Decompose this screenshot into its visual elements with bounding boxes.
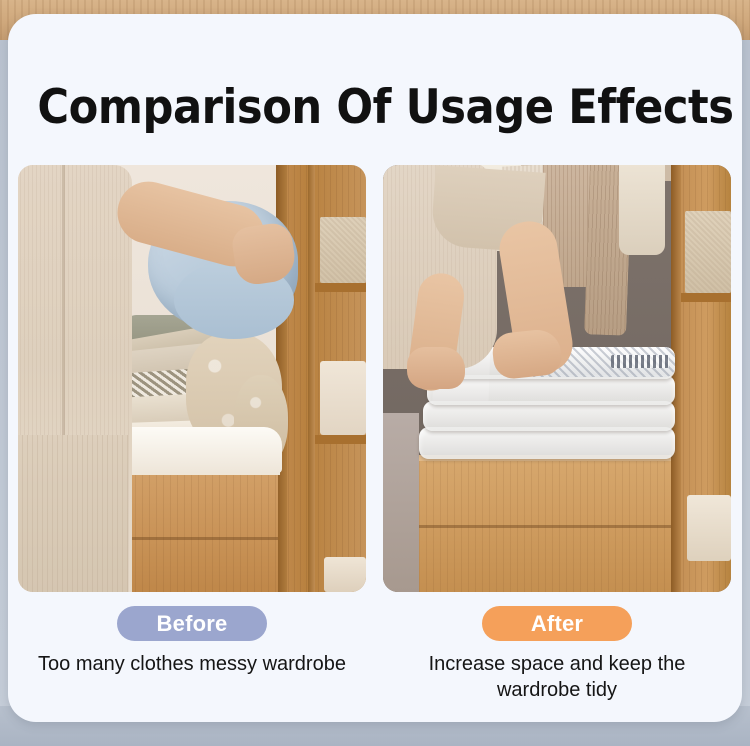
hanging-garment bbox=[619, 165, 665, 255]
page-title: Comparison Of Usage Effects bbox=[37, 80, 712, 135]
person-trousers bbox=[18, 435, 128, 592]
before-photo bbox=[18, 165, 366, 592]
wooden-drawer-front bbox=[419, 455, 671, 592]
person-hand-left bbox=[407, 347, 465, 389]
after-column: After Increase space and keep the wardro… bbox=[383, 606, 731, 703]
comparison-card: Comparison Of Usage Effects bbox=[8, 14, 742, 722]
before-caption: Too many clothes messy wardrobe bbox=[38, 651, 346, 677]
before-badge: Before bbox=[117, 606, 267, 641]
shelf-board-upper bbox=[315, 283, 366, 292]
comparison-labels: Before Too many clothes messy wardrobe A… bbox=[18, 606, 732, 703]
vacuum-storage-bag bbox=[423, 401, 675, 431]
photo-panels bbox=[18, 165, 732, 592]
vacuum-storage-bag bbox=[427, 375, 675, 405]
screenshot-root: Comparison Of Usage Effects bbox=[0, 0, 750, 746]
fabric-storage-box-upper bbox=[320, 217, 366, 283]
vacuum-storage-bag bbox=[419, 427, 675, 459]
after-caption: Increase space and keep the wardrobe tid… bbox=[402, 651, 712, 703]
before-column: Before Too many clothes messy wardrobe bbox=[18, 606, 366, 703]
fabric-storage-box-lower bbox=[687, 495, 731, 561]
side-panel bbox=[383, 413, 419, 592]
cabinet-frame-edge-inner bbox=[308, 165, 315, 592]
fabric-storage-box-middle bbox=[320, 361, 366, 435]
drawer-seam bbox=[419, 525, 671, 528]
shelf-board-lower bbox=[315, 435, 366, 444]
vacuum-bag-label bbox=[611, 355, 669, 368]
after-photo bbox=[383, 165, 731, 592]
fabric-storage-box-lower bbox=[324, 557, 366, 592]
fabric-storage-box-upper bbox=[685, 211, 731, 293]
person-hand-right bbox=[491, 328, 563, 381]
after-badge: After bbox=[482, 606, 632, 641]
shelf-board-upper bbox=[681, 293, 731, 302]
